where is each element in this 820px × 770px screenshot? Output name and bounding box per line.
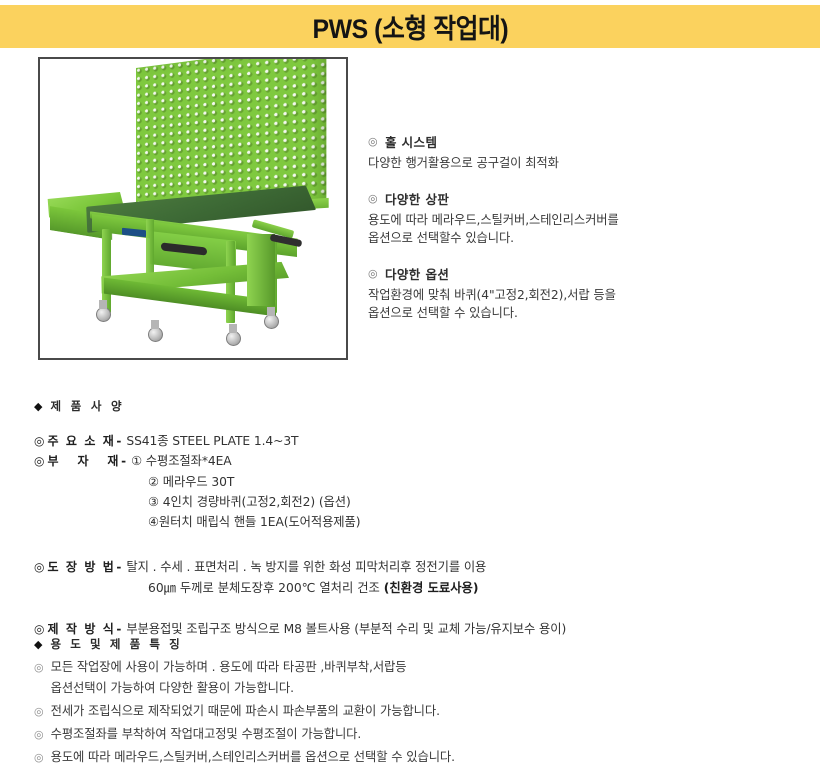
feature-description-line: 작업환경에 맞춰 바퀴(4"고정2,회전2),서랍 등을 xyxy=(368,286,788,304)
usage-item-text: 수평조절좌를 부착하여 작업대고정및 수평조절이 가능합니다. xyxy=(51,724,362,745)
feature-heading-text: 다양한 상판 xyxy=(385,189,449,208)
caster-wheel xyxy=(148,327,163,342)
spec-row-painting: ◎ 도 장 방 법 - 탈지 . 수세 . 표면처리 . 녹 방지를 위한 화성… xyxy=(34,558,794,577)
diamond-bullet-icon: ◆ xyxy=(34,638,42,651)
diamond-bullet-icon: ◆ xyxy=(34,400,42,413)
spec-value: 탈지 . 수세 . 표면처리 . 녹 방지를 위한 화성 피막처리후 정전기를 … xyxy=(126,558,486,577)
workbench-illustration xyxy=(40,59,346,358)
feature-heading-text: 홀 시스템 xyxy=(385,132,437,151)
spec-dash: - xyxy=(116,432,121,451)
double-circle-bullet-icon: ◎ xyxy=(368,193,378,204)
double-circle-bullet-icon: ◎ xyxy=(34,747,44,768)
spec-group-painting: ◎ 도 장 방 법 - 탈지 . 수세 . 표면처리 . 녹 방지를 위한 화성… xyxy=(34,558,794,598)
double-circle-bullet-icon: ◎ xyxy=(34,558,44,577)
feature-heading-text: 다양한 옵션 xyxy=(385,264,449,283)
feature-heading: ◎ 홀 시스템 xyxy=(368,132,788,151)
feature-description-line: 옵션으로 선택할수 있습니다. xyxy=(368,229,788,247)
side-support-post xyxy=(247,234,275,306)
spec-sub-item: ③ 4인치 경량바퀴(고정2,회전2) (옵션) xyxy=(148,492,794,512)
double-circle-bullet-icon: ◎ xyxy=(34,452,44,471)
usage-item-line2: 옵션선택이 가능하여 다양한 활용이 가능합니다. xyxy=(51,678,407,699)
usage-item-text: 전세가 조립식으로 제작되었기 때문에 파손시 파손부품의 교환이 가능합니다. xyxy=(51,701,440,722)
spec-row-main-material: ◎ 주 요 소 재 - SS41종 STEEL PLATE 1.4~3T xyxy=(34,432,794,451)
spec-sub-item: ② 메라우드 30T xyxy=(148,472,794,492)
spec-label: 부 자 재 xyxy=(47,452,120,471)
spec-row-sub-material: ◎ 부 자 재 - ① 수평조절좌*4EA xyxy=(34,452,794,471)
feature-heading: ◎ 다양한 옵션 xyxy=(368,264,788,283)
spec-dash: - xyxy=(121,452,126,471)
product-image-frame xyxy=(38,57,348,360)
spec-dash: - xyxy=(116,558,121,577)
usage-item-line1: 모든 작업장에 사용이 가능하며 . 용도에 따라 타공판 ,바퀴부착,서랍등 xyxy=(51,660,407,674)
spec-painting-emphasis: (친환경 도료사용) xyxy=(384,581,479,595)
double-circle-bullet-icon: ◎ xyxy=(368,136,378,147)
spec-label: 도 장 방 법 xyxy=(47,558,115,577)
specification-title-text: 제 품 사 양 xyxy=(50,398,124,414)
double-circle-bullet-icon: ◎ xyxy=(34,724,44,745)
caster-wheel xyxy=(96,307,111,322)
specification-section-title: ◆ 제 품 사 양 xyxy=(34,398,794,414)
spec-painting-line2: 60㎛ 두께로 분체도장후 200℃ 열처리 건조 xyxy=(148,581,384,595)
double-circle-bullet-icon: ◎ xyxy=(34,432,44,451)
usage-list-item: ◎ 수평조절좌를 부착하여 작업대고정및 수평조절이 가능합니다. xyxy=(34,724,794,745)
caster-wheel xyxy=(264,314,279,329)
feature-heading: ◎ 다양한 상판 xyxy=(368,189,788,208)
spec-painting-continuation: 60㎛ 두께로 분체도장후 200℃ 열처리 건조 (친환경 도료사용) xyxy=(148,578,794,598)
specification-section: ◆ 제 품 사 양 ◎ 주 요 소 재 - SS41종 STEEL PLATE … xyxy=(34,398,794,640)
feature-description-line: 옵션으로 선택할 수 있습니다. xyxy=(368,304,788,322)
product-photo xyxy=(40,59,346,358)
spec-sub-item: ④원터치 매립식 핸들 1EA(도어적용제품) xyxy=(148,512,794,532)
feature-description-line: 다양한 행거활용으로 공구걸이 최적화 xyxy=(368,154,788,172)
usage-title-text: 용 도 및 제 품 특 징 xyxy=(50,636,182,652)
spec-sub-material-list: ② 메라우드 30T ③ 4인치 경량바퀴(고정2,회전2) (옵션) ④원터치… xyxy=(148,472,794,532)
usage-features-section: ◆ 용 도 및 제 품 특 징 ◎ 모든 작업장에 사용이 가능하며 . 용도에… xyxy=(34,636,794,770)
double-circle-bullet-icon: ◎ xyxy=(34,657,44,678)
page-title: PWS (소형 작업대) xyxy=(312,7,508,46)
double-circle-bullet-icon: ◎ xyxy=(34,701,44,722)
usage-list-item: ◎ 전세가 조립식으로 제작되었기 때문에 파손시 파손부품의 교환이 가능합니… xyxy=(34,701,794,722)
spec-value: ① 수평조절좌*4EA xyxy=(131,452,232,471)
caster-wheel xyxy=(226,331,241,346)
usage-item-text: 용도에 따라 메라우드,스틸커버,스테인리스커버를 옵션으로 선택할 수 있습니… xyxy=(51,747,455,768)
brand-label xyxy=(122,228,146,238)
usage-list-item: ◎ 모든 작업장에 사용이 가능하며 . 용도에 따라 타공판 ,바퀴부착,서랍… xyxy=(34,657,794,699)
double-circle-bullet-icon: ◎ xyxy=(368,268,378,279)
spec-value: SS41종 STEEL PLATE 1.4~3T xyxy=(126,432,298,451)
usage-section-title: ◆ 용 도 및 제 품 특 징 xyxy=(34,636,794,652)
spec-label: 주 요 소 재 xyxy=(47,432,115,451)
usage-list-item: ◎ 용도에 따라 메라우드,스틸커버,스테인리스커버를 옵션으로 선택할 수 있… xyxy=(34,747,794,768)
feature-item-accessory-options: ◎ 다양한 옵션 작업환경에 맞춰 바퀴(4"고정2,회전2),서랍 등을 옵션… xyxy=(368,264,788,322)
feature-list: ◎ 홀 시스템 다양한 행거활용으로 공구걸이 최적화 ◎ 다양한 상판 용도에… xyxy=(368,132,788,339)
usage-item-text: 모든 작업장에 사용이 가능하며 . 용도에 따라 타공판 ,바퀴부착,서랍등옵… xyxy=(51,657,407,699)
feature-item-hole-system: ◎ 홀 시스템 다양한 행거활용으로 공구걸이 최적화 xyxy=(368,132,788,172)
feature-item-worktop-options: ◎ 다양한 상판 용도에 따라 메라우드,스틸커버,스테인리스커버를 옵션으로 … xyxy=(368,189,788,247)
page-header-band: PWS (소형 작업대) xyxy=(0,5,820,48)
feature-description-line: 용도에 따라 메라우드,스틸커버,스테인리스커버를 xyxy=(368,211,788,229)
